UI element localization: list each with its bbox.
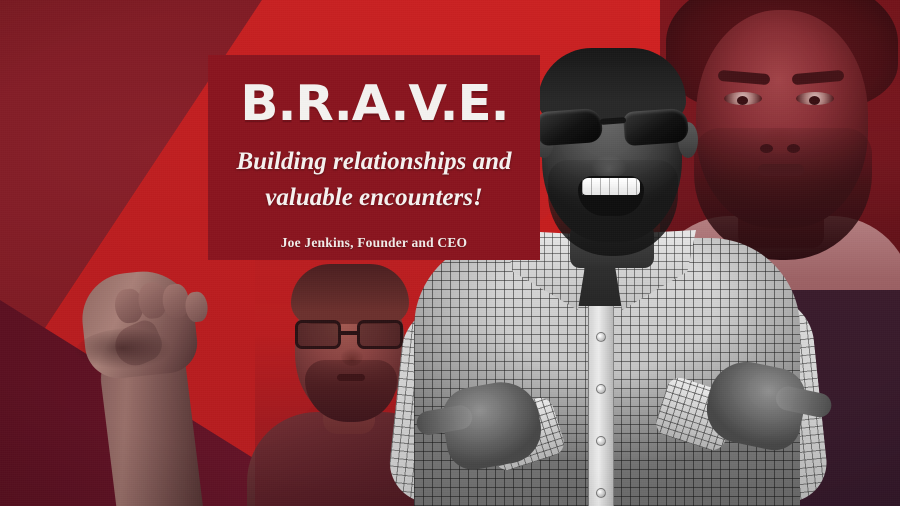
brave-promo-slide: B.R.A.V.E. Building relationships and va… — [0, 0, 900, 506]
vignette-overlay — [0, 0, 900, 506]
